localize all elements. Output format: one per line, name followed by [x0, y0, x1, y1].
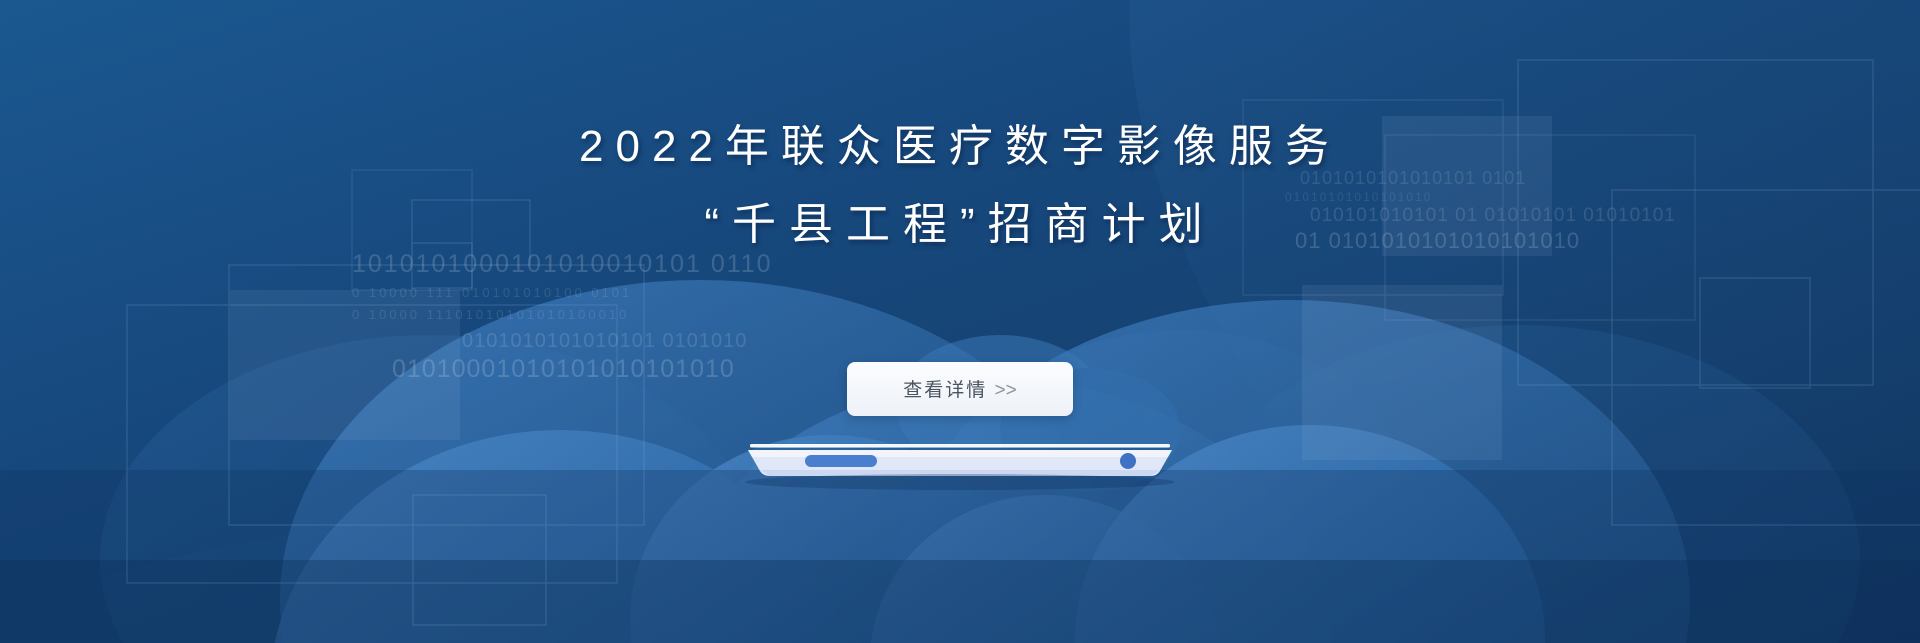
view-details-button[interactable]: 查看详情 >> [847, 362, 1073, 416]
headline-line-2: “千县工程”招商计划 [0, 186, 1920, 264]
cta-container: 查看详情 >> [0, 362, 1920, 416]
chevron-right-icon: >> [995, 380, 1017, 401]
headline-block: 2022年联众医疗数字影像服务 “千县工程”招商计划 [0, 108, 1920, 264]
laptop-base [745, 444, 1175, 478]
view-details-label: 查看详情 [903, 380, 987, 401]
banner-content: 2022年联众医疗数字影像服务 “千县工程”招商计划 查看详情 >> [0, 0, 1920, 643]
headline-line-1: 2022年联众医疗数字影像服务 [0, 108, 1920, 186]
promo-banner: 1010101000101010010101 0110 0 10000 111 … [0, 0, 1920, 643]
